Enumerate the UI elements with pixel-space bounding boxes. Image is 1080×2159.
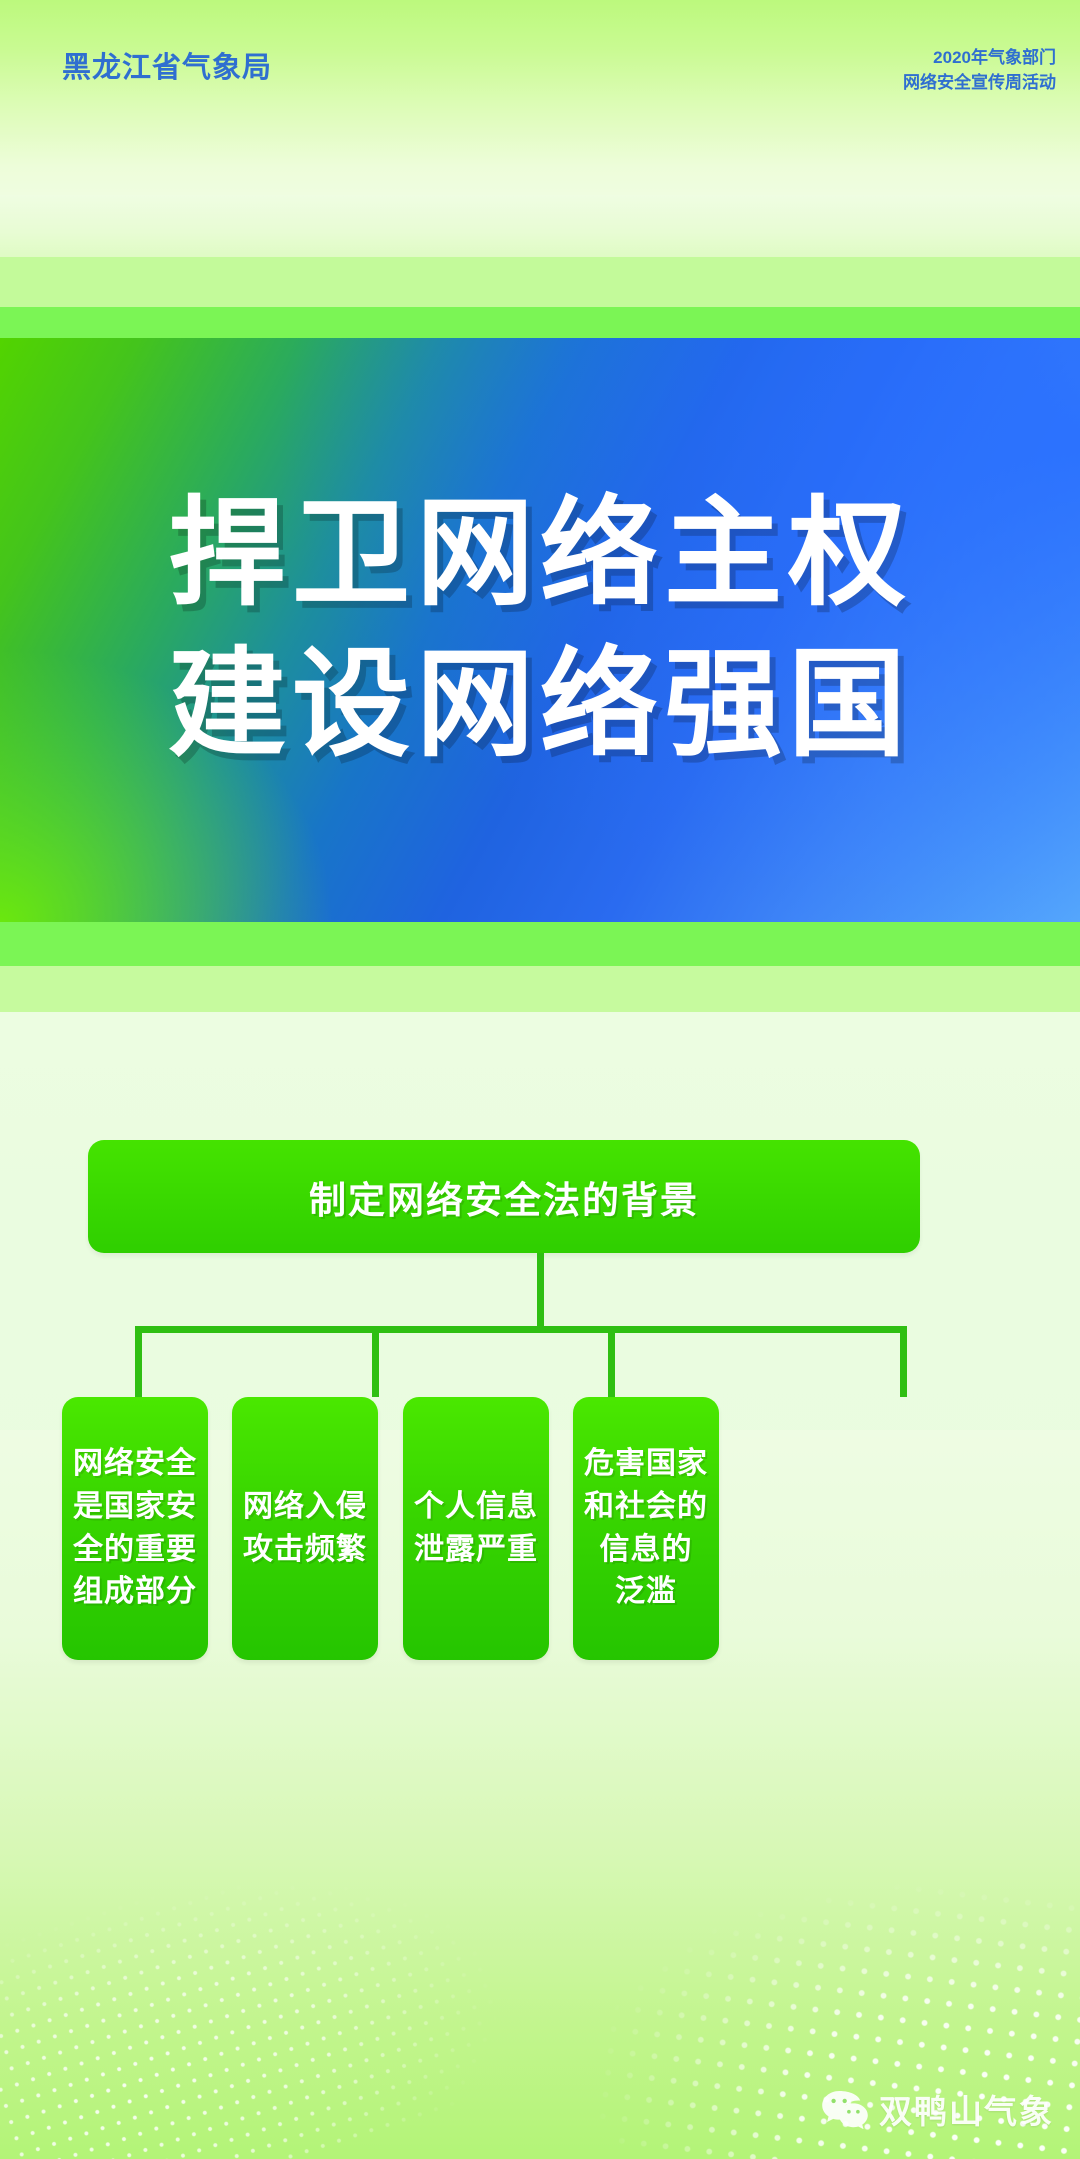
leaf-4-line-3: 信息的 <box>600 1529 693 1572</box>
stripe-mid-top <box>0 257 1080 307</box>
leaf-4-line-1: 危害国家 <box>584 1443 708 1486</box>
banner-title-line-2: 建设网络强国 <box>168 630 912 781</box>
diagram-leaf-node-3: 个人信息 泄露严重 <box>403 1397 549 1660</box>
watermark-label: 双鸭山气象 <box>879 2085 1054 2133</box>
connector-drop-1 <box>135 1330 142 1397</box>
connector-drop-2 <box>372 1330 379 1397</box>
leaf-1-line-2: 是国家安 <box>73 1486 197 1529</box>
leaf-1-line-3: 全的重要 <box>73 1529 197 1572</box>
connector-trunk <box>537 1253 544 1328</box>
wechat-watermark: 双鸭山气象 <box>821 2085 1054 2133</box>
connector-drop-3 <box>608 1330 615 1397</box>
banner-title-line-1: 捍卫网络主权 <box>168 479 912 630</box>
stripe-mid-bottom <box>0 966 1080 1012</box>
leaf-1-line-1: 网络安全 <box>73 1443 197 1486</box>
leaf-4-line-4: 泛滥 <box>615 1571 677 1614</box>
wechat-icon <box>821 2089 869 2129</box>
stripe-bright-top <box>0 307 1080 338</box>
organization-name: 黑龙江省气象局 <box>62 44 272 86</box>
diagram-root-node: 制定网络安全法的背景 <box>88 1140 920 1253</box>
diagram-leaf-node-1: 网络安全 是国家安 全的重要 组成部分 <box>62 1397 208 1660</box>
campaign-title: 2020年气象部门 网络安全宣传周活动 <box>903 46 1056 95</box>
stripe-bright-bottom <box>0 922 1080 966</box>
main-banner: 捍卫网络主权 建设网络强国 <box>0 338 1080 922</box>
leaf-3-line-1: 个人信息 <box>414 1486 538 1529</box>
leaf-4-line-2: 和社会的 <box>584 1486 708 1529</box>
campaign-line-2: 网络安全宣传周活动 <box>903 71 1056 96</box>
stripe-pale-top <box>0 195 1080 257</box>
campaign-line-1: 2020年气象部门 <box>903 46 1056 71</box>
diagram-leaf-node-2: 网络入侵 攻击频繁 <box>232 1397 378 1660</box>
diagram-leaf-node-4: 危害国家 和社会的 信息的 泛滥 <box>573 1397 719 1660</box>
diagram-root-label: 制定网络安全法的背景 <box>309 1170 699 1224</box>
poster-root: 黑龙江省气象局 2020年气象部门 网络安全宣传周活动 捍卫网络主权 建设网络强… <box>0 0 1080 2159</box>
leaf-3-line-2: 泄露严重 <box>414 1529 538 1572</box>
leaf-1-line-4: 组成部分 <box>73 1571 197 1614</box>
connector-horizontal-bar <box>135 1326 907 1333</box>
dot-wave-left <box>0 1619 729 2159</box>
leaf-2-line-1: 网络入侵 <box>243 1486 367 1529</box>
connector-drop-4 <box>900 1330 907 1397</box>
header-band: 黑龙江省气象局 2020年气象部门 网络安全宣传周活动 <box>0 0 1080 195</box>
background-diagram: 制定网络安全法的背景 网络安全 是国家安 全的重要 组成部分 网络入侵 攻击频繁… <box>0 1140 1080 1680</box>
banner-title-block: 捍卫网络主权 建设网络强国 <box>0 338 1080 922</box>
leaf-2-line-2: 攻击频繁 <box>243 1529 367 1572</box>
